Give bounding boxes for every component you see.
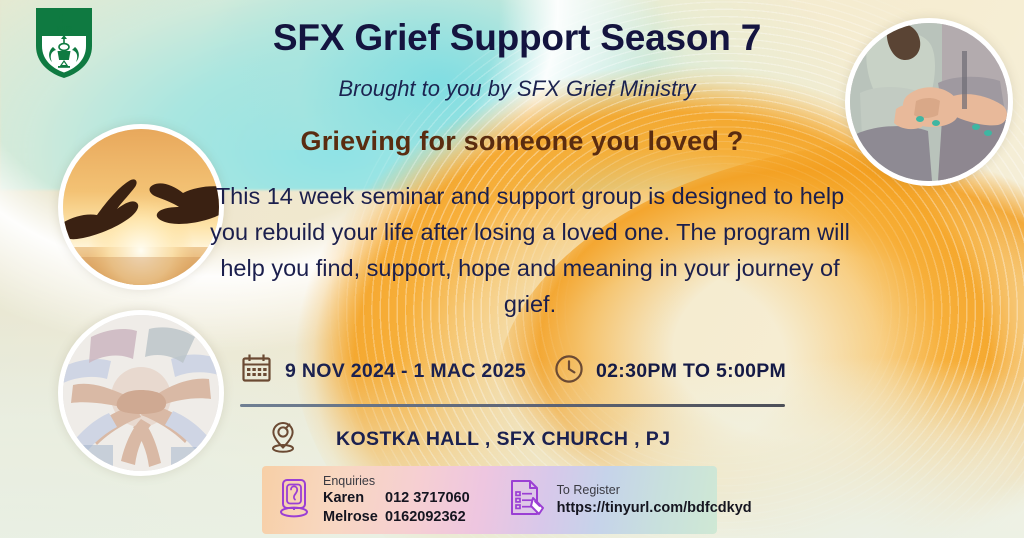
clock-icon [553, 353, 585, 390]
svg-text:IHS: IHS [56, 25, 73, 36]
calendar-icon [240, 352, 273, 390]
grief-support-poster: IHS [0, 0, 1024, 538]
contact-person-1: Karen012 3717060 [323, 489, 470, 508]
telephone-booth-icon [276, 477, 312, 524]
headline-question: Grieving for someone you loved ? [212, 126, 832, 157]
venue-name: KOSTKA HALL , SFX CHURCH , PJ [336, 428, 670, 451]
venue-row: KOSTKA HALL , SFX CHURCH , PJ [268, 420, 670, 459]
location-pin-icon [268, 420, 298, 459]
registration-form-pen-icon [506, 477, 546, 524]
schedule-row: 9 NOV 2024 - 1 MAC 2025 02:30PM TO 5:00P… [240, 352, 786, 390]
page-subtitle: Brought to you by SFX Grief Ministry [232, 76, 802, 102]
photo-group-hands-together [58, 310, 224, 476]
contact-name-2: Melrose [323, 508, 385, 527]
body-description: This 14 week seminar and support group i… [206, 178, 854, 322]
time-group: 02:30PM TO 5:00PM [553, 353, 786, 390]
register-label: To Register [557, 482, 752, 499]
contact-phone-2: 0162092362 [385, 509, 466, 525]
enquiries-block: Enquiries Karen012 3717060 Melrose016209… [276, 473, 470, 528]
contact-name-1: Karen [323, 489, 385, 508]
register-block[interactable]: To Register https://tinyurl.com/bdfcdkyd [506, 477, 752, 524]
contact-phone-1: 012 3717060 [385, 490, 470, 506]
enquiries-text: Enquiries Karen012 3717060 Melrose016209… [323, 473, 470, 528]
page-title: SFX Grief Support Season 7 [232, 17, 802, 59]
contact-person-2: Melrose0162092362 [323, 508, 470, 527]
enquiries-label: Enquiries [323, 473, 470, 490]
date-range: 9 NOV 2024 - 1 MAC 2025 [285, 360, 526, 383]
register-url[interactable]: https://tinyurl.com/bdfcdkyd [557, 499, 752, 518]
time-range: 02:30PM TO 5:00PM [596, 360, 786, 383]
contact-bar: Enquiries Karen012 3717060 Melrose016209… [262, 466, 717, 534]
sfx-ihs-shield-crest-icon: IHS [33, 6, 95, 80]
register-text: To Register https://tinyurl.com/bdfcdkyd [557, 482, 752, 518]
section-divider [240, 404, 785, 407]
photo-comforting-hands [845, 18, 1013, 186]
photo-hands-heart-sunset [58, 124, 224, 290]
